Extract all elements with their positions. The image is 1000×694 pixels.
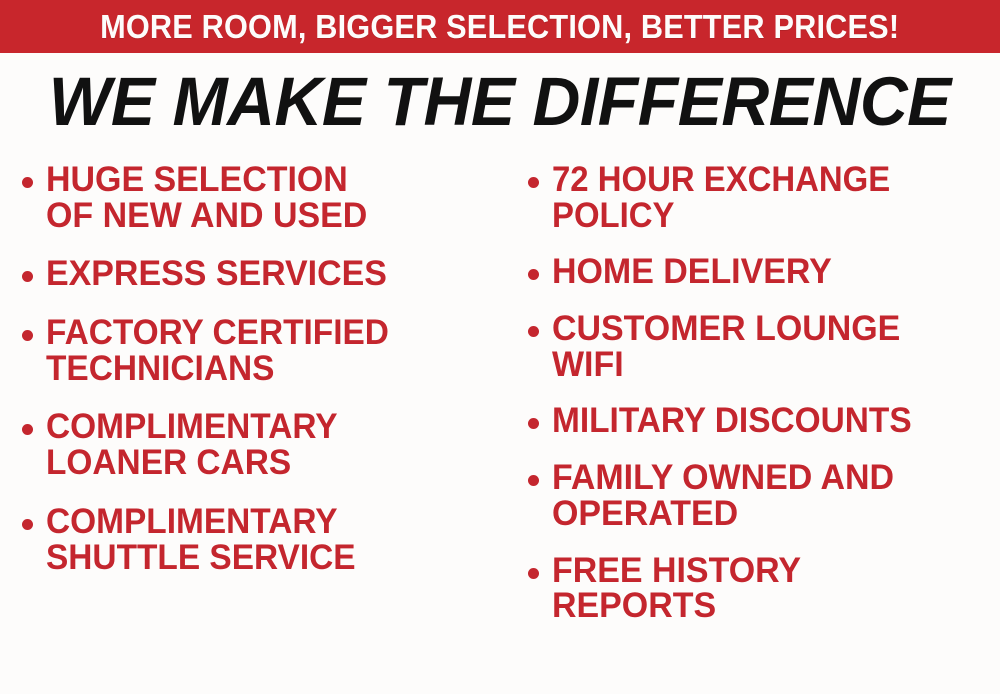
list-item-label: COMPLIMENTARY SHUTTLE SERVICE: [46, 504, 356, 575]
bullet-dot-icon: [528, 418, 539, 429]
list-item-label: FACTORY CERTIFIED TECHNICIANS: [46, 315, 389, 386]
bullet-dot-icon: [528, 568, 539, 579]
list-item: FAMILY OWNED AND OPERATED: [528, 460, 1000, 531]
bullet-dot-icon: [528, 326, 539, 337]
list-item: EXPRESS SERVICES: [22, 256, 505, 292]
headline-container: WE MAKE THE DIFFERENCE: [0, 53, 1000, 150]
list-item: FREE HISTORY REPORTS: [528, 553, 1000, 624]
bullet-dot-icon: [22, 177, 33, 188]
benefits-columns: HUGE SELECTION OF NEW AND USED EXPRESS S…: [0, 150, 1000, 694]
list-item: MILITARY DISCOUNTS: [528, 403, 1000, 439]
promo-banner: MORE ROOM, BIGGER SELECTION, BETTER PRIC…: [0, 0, 1000, 53]
list-item-label: COMPLIMENTARY LOANER CARS: [46, 409, 338, 480]
bullet-dot-icon: [528, 475, 539, 486]
promotional-poster: MORE ROOM, BIGGER SELECTION, BETTER PRIC…: [0, 0, 1000, 694]
list-item: HUGE SELECTION OF NEW AND USED: [22, 162, 505, 233]
benefits-column-right: 72 HOUR EXCHANGE POLICY HOME DELIVERY CU…: [505, 150, 1000, 694]
list-item: 72 HOUR EXCHANGE POLICY: [528, 162, 1000, 233]
list-item-label: MILITARY DISCOUNTS: [552, 403, 912, 439]
bullet-dot-icon: [528, 177, 539, 188]
list-item-label: CUSTOMER LOUNGE WIFI: [552, 311, 900, 382]
list-item: COMPLIMENTARY LOANER CARS: [22, 409, 505, 480]
list-item: FACTORY CERTIFIED TECHNICIANS: [22, 315, 505, 386]
list-item: CUSTOMER LOUNGE WIFI: [528, 311, 1000, 382]
list-item-label: FAMILY OWNED AND OPERATED: [552, 460, 894, 531]
list-item: COMPLIMENTARY SHUTTLE SERVICE: [22, 504, 505, 575]
page-title: WE MAKE THE DIFFERENCE: [49, 67, 951, 136]
list-item: HOME DELIVERY: [528, 254, 1000, 290]
benefits-column-left: HUGE SELECTION OF NEW AND USED EXPRESS S…: [0, 150, 505, 694]
bullet-dot-icon: [528, 269, 539, 280]
bullet-dot-icon: [22, 330, 33, 341]
list-item-label: EXPRESS SERVICES: [46, 256, 387, 292]
promo-banner-text: MORE ROOM, BIGGER SELECTION, BETTER PRIC…: [100, 10, 899, 43]
list-item-label: HOME DELIVERY: [552, 254, 832, 290]
list-item-label: 72 HOUR EXCHANGE POLICY: [552, 162, 890, 233]
bullet-dot-icon: [22, 519, 33, 530]
bullet-dot-icon: [22, 424, 33, 435]
list-item-label: FREE HISTORY REPORTS: [552, 553, 801, 624]
bullet-dot-icon: [22, 271, 33, 282]
list-item-label: HUGE SELECTION OF NEW AND USED: [46, 162, 367, 233]
